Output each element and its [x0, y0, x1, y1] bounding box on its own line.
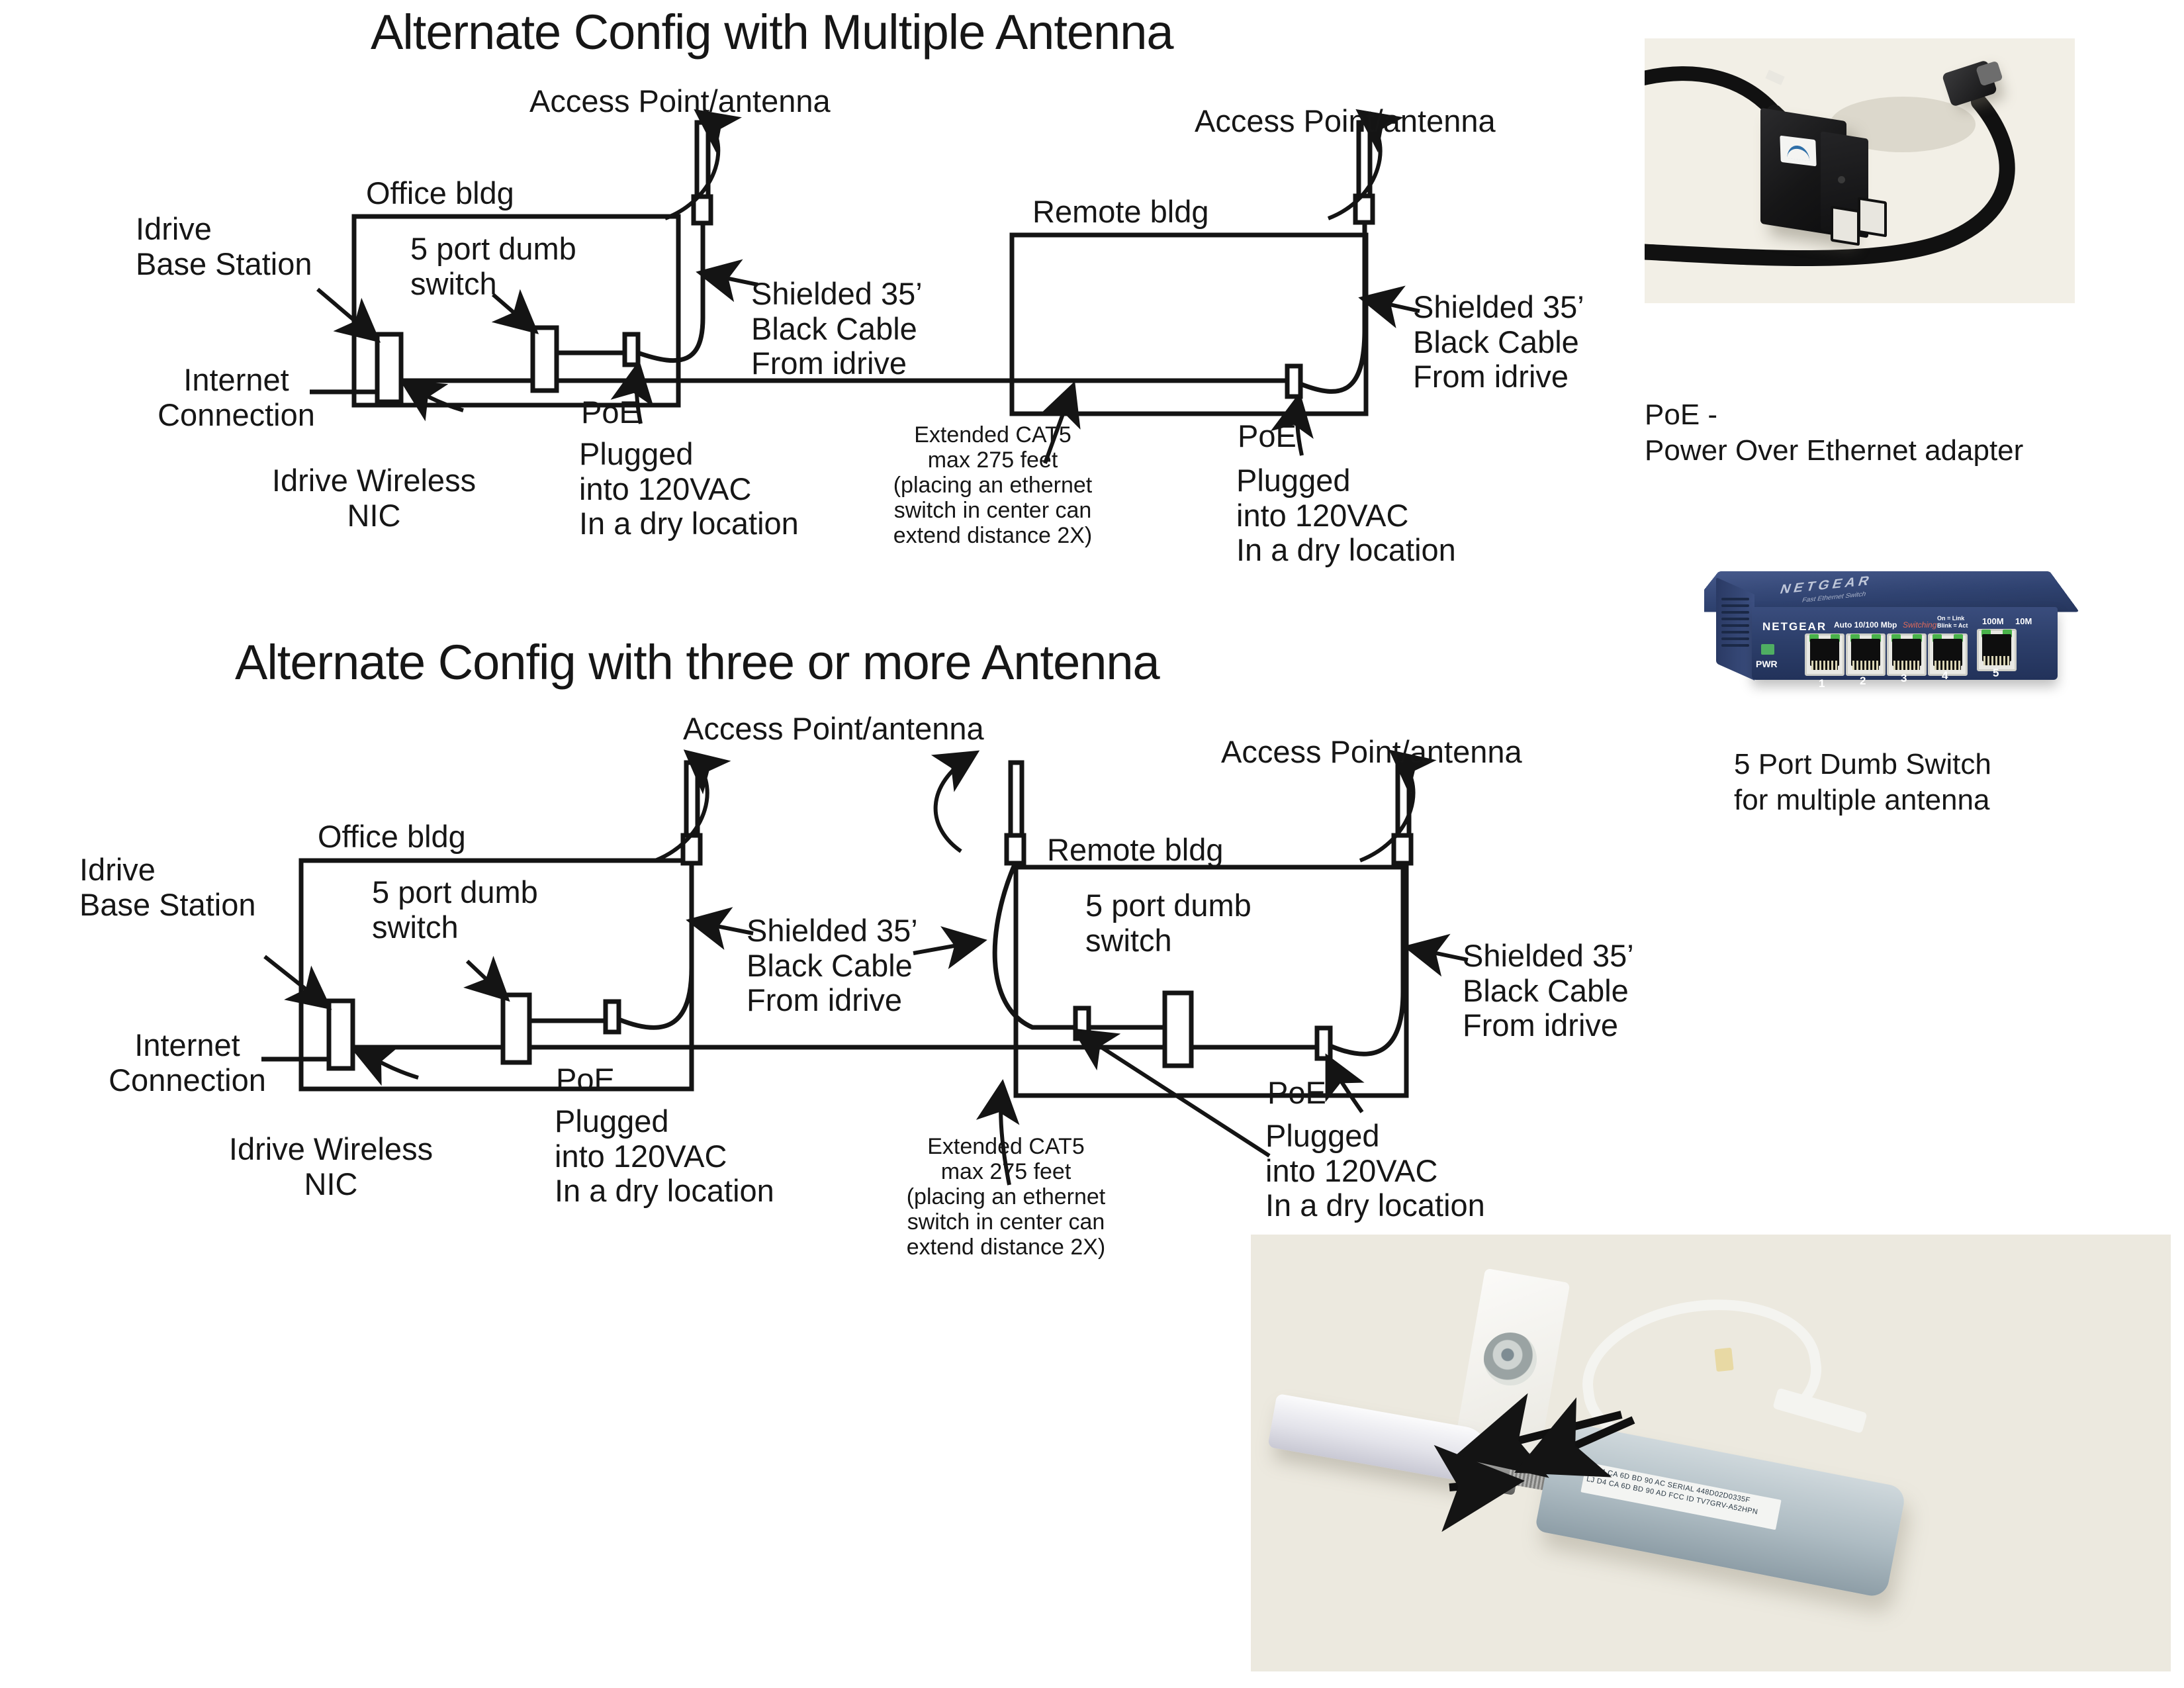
netgear-switch-photo: NETGEAR Fast Ethernet Switch NETGEAR Aut… — [1704, 559, 2101, 738]
d2-office-bldg-label: Office bldg — [318, 820, 466, 855]
switch-port-2 — [1846, 633, 1886, 676]
antenna-assembly-arrows — [1251, 1235, 2171, 1671]
switch-power-label: PWR — [1756, 659, 1778, 669]
switch-10m-label: 10M — [2015, 616, 2032, 626]
d2-remote-switch-box — [1165, 993, 1191, 1066]
d2-arrow-nic — [358, 1051, 418, 1078]
poe-status-led — [1838, 176, 1845, 183]
switch-top-face — [1704, 571, 2079, 612]
d1-remote-bldg-label: Remote bldg — [1032, 195, 1209, 230]
d2-internet-connection-label: Internet Connection — [105, 1028, 270, 1098]
d2-office-poe-box — [606, 1002, 619, 1032]
d2-remote-right-poe-box — [1317, 1028, 1330, 1058]
switch-port-3 — [1887, 633, 1927, 676]
d2-access-point-office-label: Access Point/antenna — [683, 712, 984, 747]
d1-arrow-shielded-right — [1366, 299, 1420, 311]
d2-remote-right-antenna-base — [1394, 835, 1411, 863]
d1-arrow-base-station — [318, 289, 375, 338]
d1-office-bldg-label: Office bldg — [366, 176, 514, 211]
d1-access-point-left-label: Access Point/antenna — [529, 84, 831, 119]
switch-port-5 — [1977, 629, 2017, 671]
d2-extended-cat5-label: Extended CAT5 max 275 feet (placing an e… — [874, 1134, 1138, 1260]
poe-rj45-jack-in — [1831, 206, 1860, 246]
d2-base-station-box — [329, 1001, 353, 1068]
d2-shielded-cable-office-label: Shielded 35’ Black Cable From idrive — [747, 914, 918, 1018]
d2-five-port-switch-office-label: 5 port dumb switch — [372, 875, 538, 945]
d1-remote-poe-box — [1287, 366, 1300, 397]
d2-poe-right-label: PoE — [1267, 1076, 1326, 1111]
d2-remote-right-shielded-cable — [1330, 867, 1403, 1054]
d1-plugged-right-label: Plugged into 120VAC In a dry location — [1236, 463, 1456, 568]
d1-poe-right-label: PoE — [1238, 419, 1297, 454]
poe-photo-caption: PoE - Power Over Ethernet adapter — [1645, 397, 2023, 468]
d1-office-switch-box — [533, 328, 557, 391]
d2-plugged-left-label: Plugged into 120VAC In a dry location — [555, 1104, 774, 1209]
d2-remote-left-antenna-base — [1007, 835, 1024, 863]
switch-port-number-3: 3 — [1901, 672, 1907, 685]
d1-shielded-cable-left-label: Shielded 35’ Black Cable From idrive — [751, 277, 923, 381]
switch-port-1 — [1805, 633, 1844, 676]
d2-office-shielded-cable — [619, 867, 692, 1027]
d2-access-point-remote-label: Access Point/antenna — [1221, 735, 1522, 770]
d2-remote-left-shielded-cable — [995, 863, 1079, 1027]
d1-access-point-right-label: Access Point/antenna — [1195, 104, 1496, 139]
d2-plugged-right-label: Plugged into 120VAC In a dry location — [1265, 1119, 1485, 1223]
d1-five-port-switch-label: 5 port dumb switch — [410, 232, 576, 301]
d1-office-poe-box — [625, 334, 638, 365]
d2-arrow-office-switch — [467, 961, 504, 996]
ubiquiti-logo-icon — [1780, 136, 1816, 167]
diagram-canvas: Alternate Config with Multiple Antenna A… — [0, 0, 2184, 1688]
d2-arrow-remote-right-poe — [1329, 1060, 1362, 1112]
d2-idrive-wireless-nic-label: Idrive Wireless NIC — [208, 1132, 453, 1201]
d2-arrow-shielded-remote-right — [1411, 948, 1468, 960]
d1-idrive-wireless-nic-label: Idrive Wireless NIC — [251, 463, 496, 533]
switch-port-number-2: 2 — [1860, 675, 1866, 688]
switch-brand-label: NETGEAR — [1762, 620, 1827, 633]
diagram1-title: Alternate Config with Multiple Antenna — [371, 5, 1173, 60]
switch-auto-speed-label: Auto 10/100 Mbp — [1834, 620, 1897, 630]
d2-arrow-shielded-remote-left — [913, 941, 979, 953]
d1-idrive-base-station-label: Idrive Base Station — [136, 212, 312, 281]
d2-shielded-cable-remote-label: Shielded 35’ Black Cable From idrive — [1463, 939, 1634, 1043]
d1-plugged-left-label: Plugged into 120VAC In a dry location — [579, 437, 799, 541]
d1-office-shielded-cable — [638, 225, 703, 361]
d1-arrow-shielded-left — [704, 273, 758, 285]
d1-poe-left-label: PoE — [581, 395, 640, 430]
d2-arrow-access-point-remote-left — [936, 755, 973, 851]
switch-photo-caption: 5 Port Dumb Switch for multiple antenna — [1734, 747, 1991, 818]
switch-switching-label: Switching — [1903, 620, 1936, 630]
poe-adapter-photo — [1645, 38, 2075, 303]
d2-poe-left-label: PoE — [556, 1062, 615, 1098]
d1-base-station-box — [377, 334, 401, 402]
antenna-kit-photo: E D4 CA 6D BD 90 AC SERIAL 448D02D0335FL… — [1251, 1235, 2171, 1671]
diagram2-title: Alternate Config with three or more Ante… — [235, 635, 1160, 690]
switch-vent-icon — [1721, 598, 1749, 655]
switch-port-number-5: 5 — [1993, 667, 1999, 680]
d1-shielded-cable-right-label: Shielded 35’ Black Cable From idrive — [1413, 290, 1584, 395]
d2-office-switch-box — [503, 995, 529, 1062]
poe-rj45-jack-out — [1858, 197, 1887, 238]
switch-power-led — [1761, 644, 1774, 655]
d2-idrive-base-station-label: Idrive Base Station — [79, 853, 256, 922]
d1-remote-shielded-cable — [1300, 224, 1365, 391]
switch-link-legend-label: On = Link Blink = Act — [1937, 615, 1968, 630]
d2-five-port-switch-remote-label: 5 port dumb switch — [1085, 888, 1251, 958]
switch-port-number-1: 1 — [1819, 677, 1825, 690]
d2-arrow-base-station — [265, 957, 326, 1005]
d1-arrow-poe-right — [1297, 400, 1302, 455]
switch-port-number-4: 4 — [1942, 669, 1948, 682]
d1-internet-connection-label: Internet Connection — [154, 363, 319, 432]
d2-arrow-shielded-office — [694, 921, 753, 933]
d2-remote-bldg-label: Remote bldg — [1047, 833, 1224, 868]
d1-extended-cat5-label: Extended CAT5 max 275 feet (placing an e… — [860, 422, 1125, 548]
switch-100m-label: 100M — [1982, 616, 2004, 626]
